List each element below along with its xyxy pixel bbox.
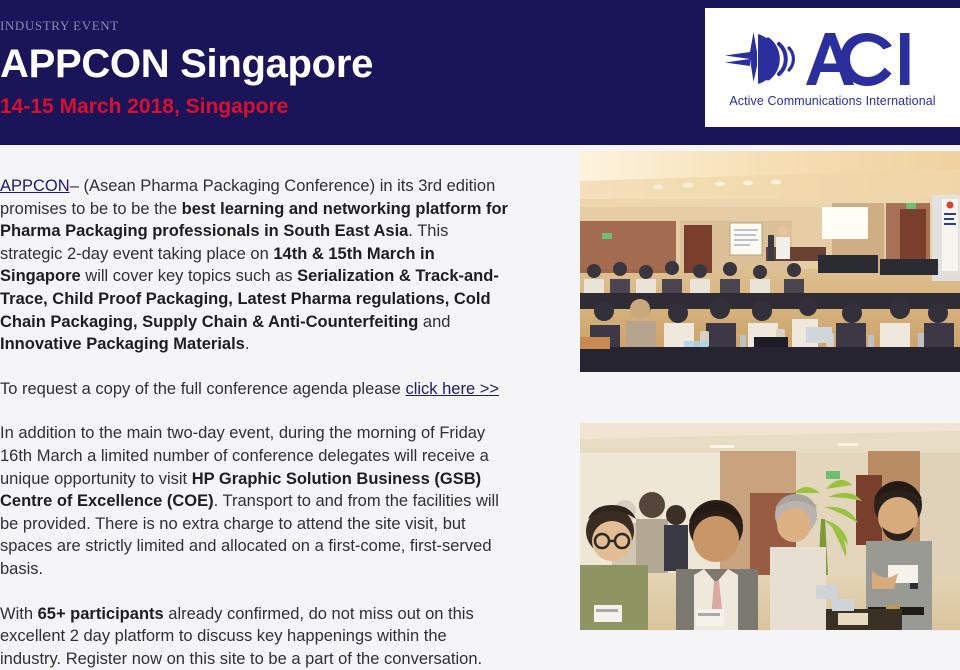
participants-text-1: With <box>0 605 38 623</box>
paragraph-participants: With 65+ participants already confirmed,… <box>0 603 512 670</box>
agenda-request-text: To request a copy of the full conference… <box>0 380 405 398</box>
page-title: APPCON Singapore <box>0 43 700 85</box>
aci-logo-mark <box>724 28 942 90</box>
paragraph-intro-text-5: . <box>245 335 250 353</box>
banner-text-block: INDUSTRY EVENT APPCON Singapore 14-15 Ma… <box>0 0 700 118</box>
paragraph-intro-bold-4: Innovative Packaging Materials <box>0 335 245 353</box>
photo-column <box>580 145 960 630</box>
event-date-location: 14-15 March 2018, Singapore <box>0 95 700 118</box>
paragraph-intro: APPCON– (Asean Pharma Packaging Conferen… <box>0 175 512 356</box>
paragraph-intro-text-4: and <box>418 313 450 331</box>
conference-hall-photo <box>580 151 960 372</box>
appcon-link[interactable]: APPCON <box>0 177 70 195</box>
aci-logo[interactable]: Active Communications International <box>705 8 960 127</box>
aci-logo-tagline: Active Communications International <box>729 94 935 108</box>
event-description: APPCON– (Asean Pharma Packaging Conferen… <box>0 145 512 670</box>
event-header-banner: INDUSTRY EVENT APPCON Singapore 14-15 Ma… <box>0 0 960 145</box>
paragraph-intro-text-3: will cover key topics such as <box>81 267 297 285</box>
main-content: APPCON– (Asean Pharma Packaging Conferen… <box>0 145 960 655</box>
paragraph-agenda-request: To request a copy of the full conference… <box>0 378 512 401</box>
paragraph-site-visit: In addition to the main two-day event, d… <box>0 422 512 580</box>
participants-bold-1: 65+ participants <box>38 605 164 623</box>
networking-photo <box>580 423 960 630</box>
agenda-click-here-link[interactable]: click here >> <box>405 380 499 398</box>
signal-broadcast-icon <box>725 32 793 84</box>
eyebrow-label: INDUSTRY EVENT <box>0 19 700 33</box>
